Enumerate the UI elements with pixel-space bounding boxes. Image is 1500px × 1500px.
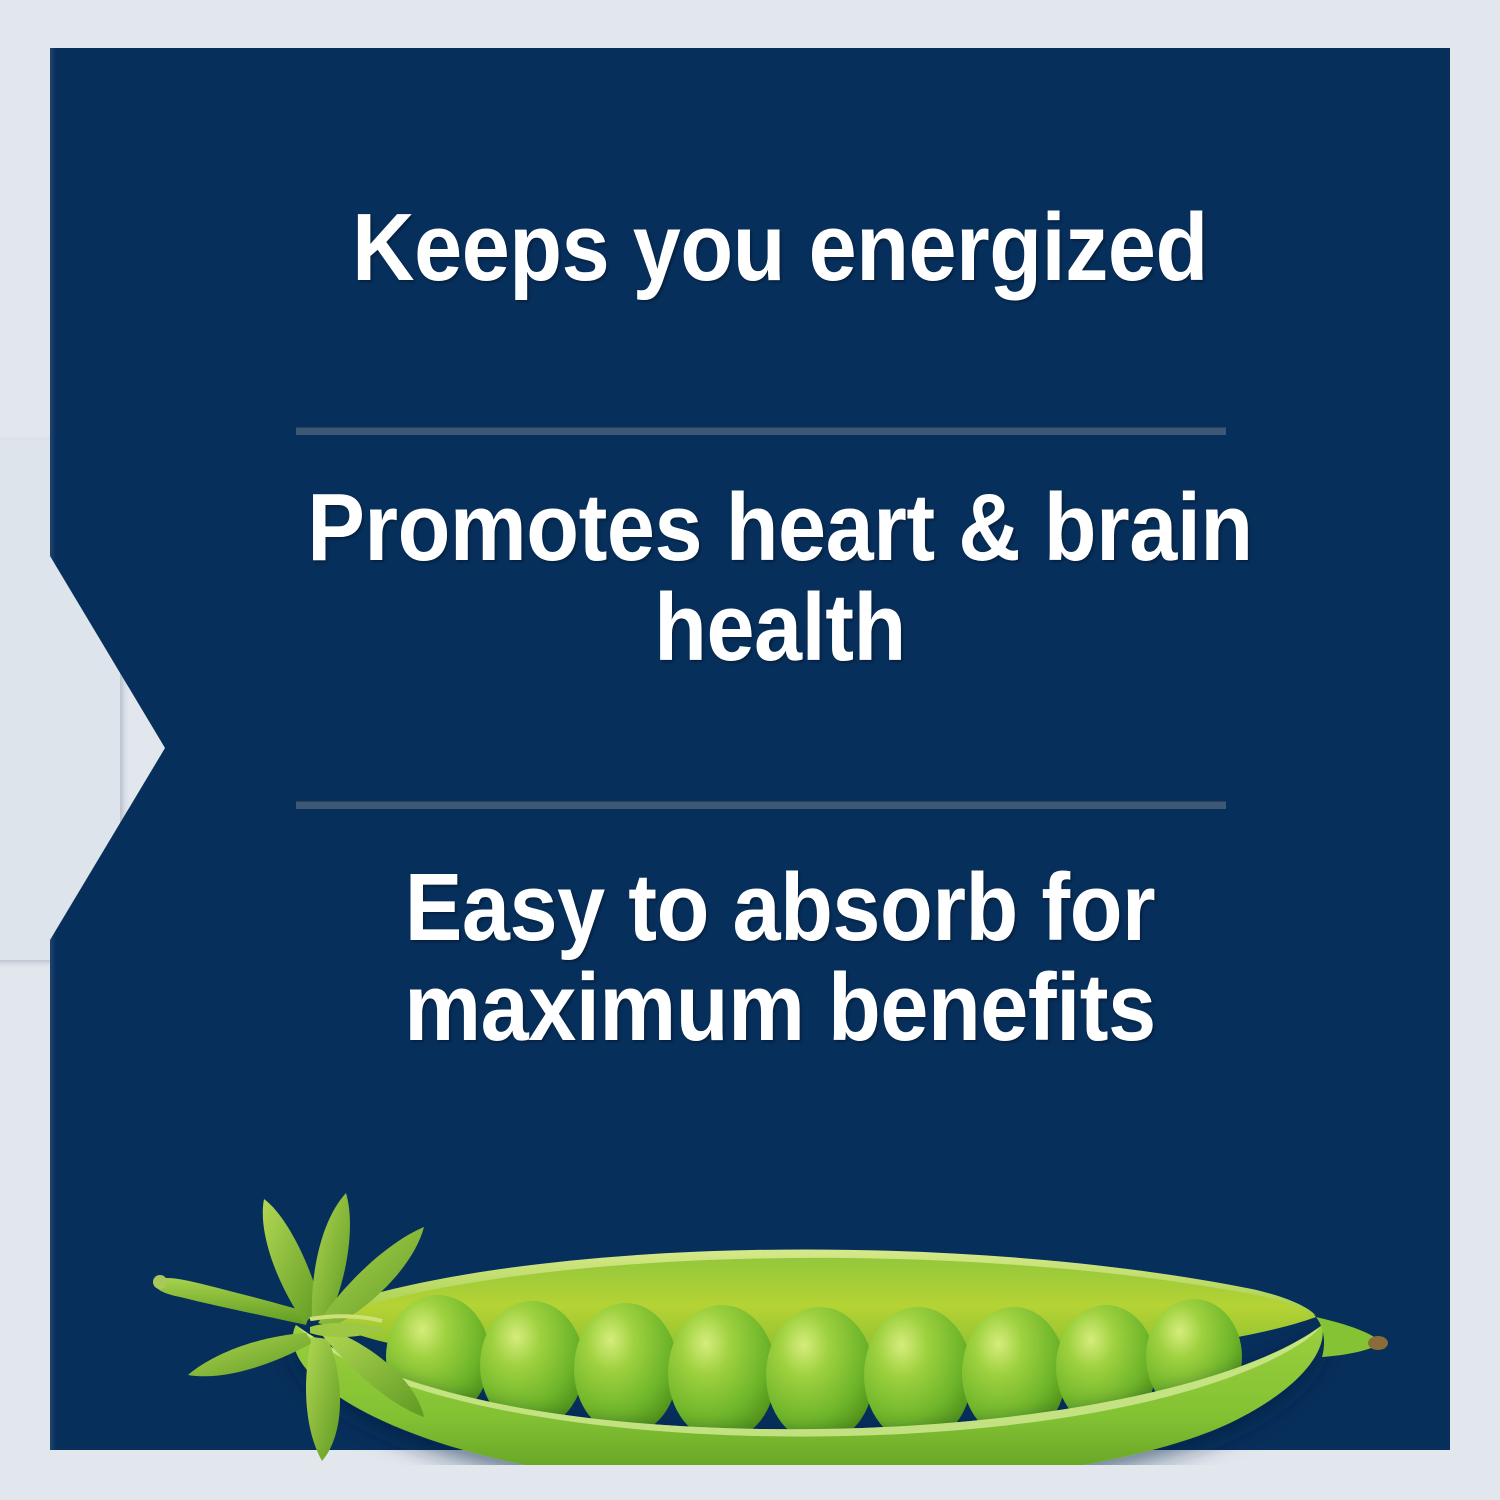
product-benefits-panel: Keeps you energized Promotes heart & bra… <box>0 0 1500 1500</box>
benefit-headline-energized: Keeps you energized <box>249 198 1311 298</box>
benefit-headline-absorb: Easy to absorb for maximum benefits <box>249 858 1311 1058</box>
benefit-headline-heart-brain: Promotes heart & brain health <box>249 478 1311 678</box>
section-divider-2 <box>296 801 1226 809</box>
section-divider-1 <box>296 427 1226 435</box>
